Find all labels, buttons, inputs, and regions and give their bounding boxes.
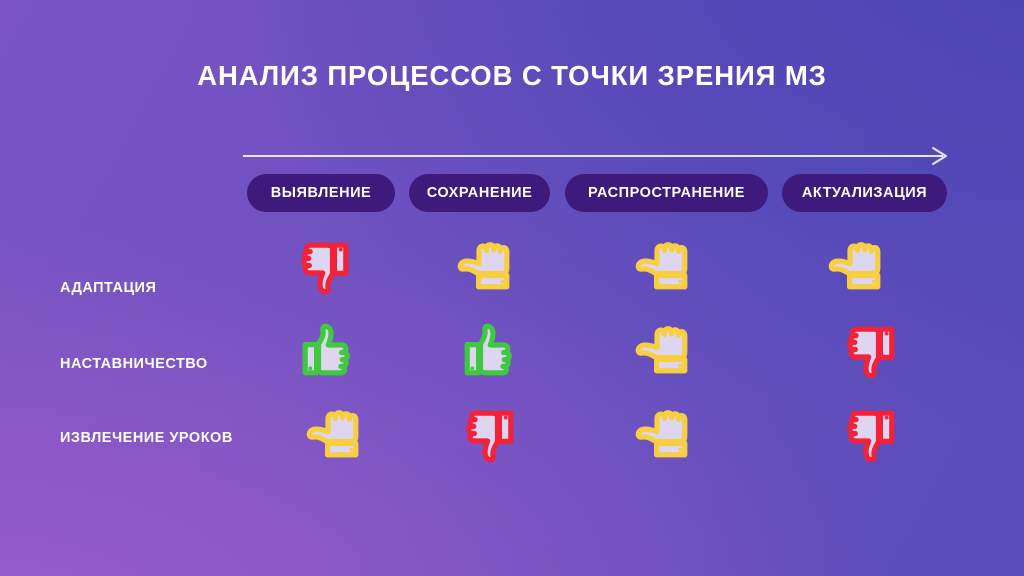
row-label-2: НАСТАВНИЧЕСТВО [60, 356, 280, 372]
thumbs-up-icon [458, 322, 516, 380]
slide-canvas: АНАЛИЗ ПРОЦЕССОВ С ТОЧКИ ЗРЕНИЯ МЗ ВЫЯВЛ… [0, 0, 1024, 576]
row-label-3: ИЗВЛЕЧЕНИЕ УРОКОВ [60, 430, 280, 446]
process-flow-arrow [243, 146, 949, 166]
stage-pill-3[interactable]: РАСПРОСТРАНЕНИЕ [565, 174, 768, 212]
thumbs-down-icon [843, 406, 901, 464]
thumb-sideways-icon [456, 238, 514, 296]
rating-cell-r2-c3[interactable] [634, 322, 692, 380]
stage-pill-4[interactable]: АКТУАЛИЗАЦИЯ [782, 174, 947, 212]
rating-cell-r3-c1[interactable] [305, 406, 363, 464]
stage-pill-1[interactable]: ВЫЯВЛЕНИЕ [247, 174, 395, 212]
thumbs-down-icon [843, 322, 901, 380]
rating-cell-r3-c4[interactable] [843, 406, 901, 464]
rating-cell-r1-c1[interactable] [297, 238, 355, 296]
thumb-sideways-icon [634, 322, 692, 380]
thumb-sideways-icon [634, 406, 692, 464]
thumb-sideways-icon [634, 238, 692, 296]
rating-cell-r2-c1[interactable] [296, 322, 354, 380]
thumbs-up-icon [296, 322, 354, 380]
rating-cell-r3-c2[interactable] [462, 406, 520, 464]
thumbs-down-icon [462, 406, 520, 464]
rating-cell-r2-c2[interactable] [458, 322, 516, 380]
rating-cell-r2-c4[interactable] [843, 322, 901, 380]
thumbs-down-icon [297, 238, 355, 296]
rating-cell-r1-c2[interactable] [456, 238, 514, 296]
page-title: АНАЛИЗ ПРОЦЕССОВ С ТОЧКИ ЗРЕНИЯ МЗ [0, 60, 1024, 92]
rating-cell-r1-c4[interactable] [827, 238, 885, 296]
rating-cell-r3-c3[interactable] [634, 406, 692, 464]
thumb-sideways-icon [305, 406, 363, 464]
thumb-sideways-icon [827, 238, 885, 296]
rating-cell-r1-c3[interactable] [634, 238, 692, 296]
stage-pill-2[interactable]: СОХРАНЕНИЕ [409, 174, 550, 212]
row-label-1: АДАПТАЦИЯ [60, 280, 280, 296]
